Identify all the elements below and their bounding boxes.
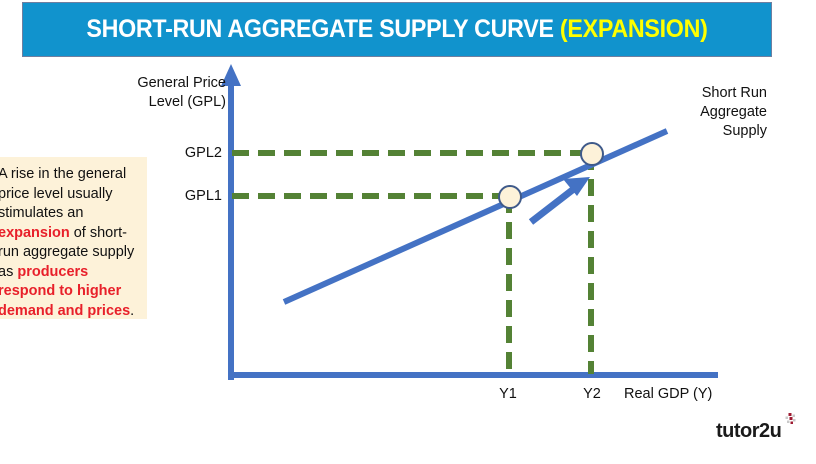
tutor2u-logo: tutor2u: [716, 420, 781, 443]
y-axis-label: General Price Level (GPL): [108, 74, 226, 112]
equilibrium-marker-1: [499, 186, 521, 208]
x-tick-label-y1: Y1: [490, 386, 526, 402]
sras-curve: [284, 131, 667, 302]
sras-diagram: General Price Level (GPL) Real GDP (Y) S…: [0, 0, 816, 464]
sras-curve-label: Short Run Aggregate Supply: [655, 84, 767, 141]
equilibrium-marker-2: [581, 143, 603, 165]
tutor2u-logo-mark-icon: [783, 413, 796, 426]
y-tick-label-gpl1: GPL1: [166, 188, 222, 204]
x-axis-label: Real GDP (Y): [624, 385, 712, 404]
x-tick-label-y2: Y2: [574, 386, 610, 402]
tutor2u-logo-text: tutor2u: [716, 420, 781, 442]
expansion-arrow-icon: [531, 177, 590, 222]
y-tick-label-gpl2: GPL2: [166, 145, 222, 161]
